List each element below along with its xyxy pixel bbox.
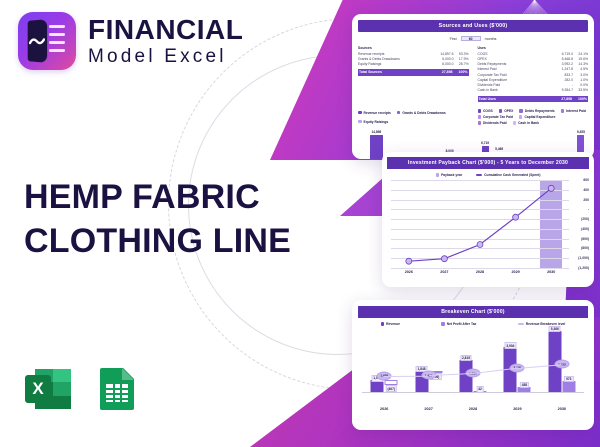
filter-months-input[interactable]: 60 bbox=[461, 36, 481, 41]
cell-name: Cash in Bank bbox=[478, 88, 551, 93]
payback-legend: Payback yearCumulative Cash Generated (S… bbox=[387, 173, 589, 177]
logo-list-lines bbox=[49, 25, 67, 57]
legend-label: Dividends Paid bbox=[483, 121, 507, 125]
table-row: Cash in Bank9,354.733.5% bbox=[478, 88, 589, 93]
legend-swatch bbox=[358, 111, 362, 115]
legend-item: Corporate Tax Paid bbox=[478, 115, 513, 119]
legend-swatch bbox=[499, 109, 503, 113]
revenue-value-label: 5,366 bbox=[549, 326, 561, 333]
card-sources-and-uses[interactable]: Sources and Uses ($'000) First 60 months… bbox=[352, 14, 594, 159]
legend-swatch bbox=[519, 115, 523, 119]
y-tick-label: - bbox=[588, 207, 589, 211]
legend-label: OPEX bbox=[504, 109, 513, 113]
microsoft-excel-icon: X bbox=[25, 366, 71, 412]
y-tick-label: (200) bbox=[581, 217, 589, 221]
legend-label: COGS bbox=[483, 109, 493, 113]
google-sheets-icon bbox=[95, 366, 141, 412]
net-profit-value-label: (467) bbox=[385, 385, 396, 392]
net-profit-value-label: 973 bbox=[564, 376, 573, 383]
x-tick-label: 2028 bbox=[451, 407, 495, 411]
legend-swatch bbox=[561, 109, 565, 113]
card-investment-payback[interactable]: Investment Payback Chart ($'000) - 5 Yea… bbox=[382, 152, 594, 287]
x-tick-label: 2028 bbox=[462, 270, 498, 274]
legend-swatch bbox=[358, 120, 362, 124]
legend-item: Grants & Debts Drawdowns bbox=[397, 109, 446, 116]
y-tick-label: (600) bbox=[581, 237, 589, 241]
y-tick-label: (400) bbox=[581, 227, 589, 231]
uses-column: Uses COGS6,719.024.1%OPEX5,468.819.6%Deb… bbox=[478, 46, 589, 102]
brand-logo: FINANCIAL Model Excel bbox=[18, 12, 243, 70]
legend-item: Revenue bbox=[381, 322, 400, 326]
y-tick-label: (1,200) bbox=[578, 266, 589, 270]
uses-total-pct: 100% bbox=[572, 97, 587, 101]
legend-item: Net Profit After Tax bbox=[441, 322, 476, 326]
legend-item: COGS bbox=[478, 109, 493, 113]
net-profit-value-label: 458 bbox=[520, 382, 529, 389]
revenue-value-label: 2,819 bbox=[460, 355, 472, 362]
x-tick-label: 2026 bbox=[362, 407, 406, 411]
cell-pct: 33.5% bbox=[573, 88, 588, 93]
revenue-bar: 1,040 bbox=[371, 380, 384, 392]
bar-value-label: 14,898 bbox=[371, 130, 381, 134]
legend-swatch bbox=[478, 121, 482, 125]
sources-total-row: Total Sources 27,898 100% bbox=[358, 69, 469, 75]
legend-swatch bbox=[436, 173, 440, 177]
legend-label: Grants & Debts Drawdowns bbox=[402, 111, 445, 115]
sources-uses-filter[interactable]: First 60 months bbox=[358, 36, 588, 41]
sources-header: Sources bbox=[358, 46, 469, 50]
legend-label: Payback year bbox=[441, 173, 462, 177]
uses-total-label: Total Uses bbox=[479, 97, 550, 101]
breakeven-x-axis-labels: 20262027202820292030 bbox=[362, 407, 584, 411]
legend-item: Equity Raisings bbox=[358, 118, 388, 125]
x-tick-label: 2029 bbox=[498, 270, 534, 274]
bar-value-label: 6,719 bbox=[481, 141, 489, 145]
cell-pct: 28.7% bbox=[454, 62, 469, 67]
legend-item: Payback year bbox=[436, 173, 463, 177]
filter-suffix-label: months bbox=[485, 37, 497, 41]
legend-swatch bbox=[519, 109, 523, 113]
y-tick-label: 400 bbox=[583, 188, 589, 192]
breakeven-title: Breakeven Chart ($'000) bbox=[358, 306, 588, 318]
cell-value: 8,000.0 bbox=[431, 62, 454, 67]
payback-plot: 600400200-(200)(400)(600)(800)(1,000)(1,… bbox=[391, 180, 569, 268]
legend-label: Revenue bbox=[386, 322, 400, 326]
legend-swatch bbox=[478, 115, 482, 119]
sources-uses-title: Sources and Uses ($'000) bbox=[358, 20, 588, 32]
y-tick-label: 600 bbox=[583, 178, 589, 182]
brand-name-secondary: Model Excel bbox=[88, 47, 243, 66]
uses-chart-legend: COGSOPEXDebts RepaymentsInterest PaidCor… bbox=[478, 109, 589, 125]
y-tick-label: (800) bbox=[581, 246, 589, 250]
legend-swatch bbox=[441, 322, 445, 326]
logo-wave-icon bbox=[29, 37, 45, 46]
cell-value: 9,354.7 bbox=[550, 88, 573, 93]
x-tick-label: 2029 bbox=[495, 407, 539, 411]
legend-item: Capital Expenditure bbox=[519, 115, 555, 119]
legend-swatch bbox=[478, 109, 482, 113]
breakeven-plot: 1,040(467)1,4381,848(206)1,4572,819421,6… bbox=[362, 328, 584, 406]
bar-group: 1,040(467) bbox=[371, 380, 398, 392]
legend-label: Cumulative Cash Generated (Spent) bbox=[484, 173, 540, 177]
breakeven-level-line bbox=[384, 375, 428, 376]
legend-item: OPEX bbox=[499, 109, 514, 113]
x-tick-label: 2026 bbox=[391, 270, 427, 274]
legend-label: Cash in Bank bbox=[518, 121, 539, 125]
legend-item: Debts Repayments bbox=[519, 109, 554, 113]
legend-item: Cash in Bank bbox=[513, 121, 539, 125]
sources-chart-legend: Revenue receiptsGrants & Debts Drawdowns… bbox=[358, 109, 469, 125]
legend-label: Debts Repayments bbox=[525, 109, 555, 113]
bar-group: 14,898 bbox=[370, 128, 383, 159]
legend-swatch bbox=[476, 174, 482, 175]
sources-column: Sources Revenue receipts14,897.653.3%Gra… bbox=[358, 46, 469, 102]
table-row: Equity Raisings8,000.028.7% bbox=[358, 62, 469, 67]
x-tick-label: 2030 bbox=[533, 270, 569, 274]
net-profit-bar: 42 bbox=[474, 391, 487, 392]
legend-swatch bbox=[397, 111, 401, 115]
legend-item: Revenue receipts bbox=[358, 109, 391, 116]
legend-item: Dividends Paid bbox=[478, 121, 507, 125]
x-tick-label: 2027 bbox=[406, 407, 450, 411]
revenue-value-label: 3,904 bbox=[504, 342, 516, 349]
y-tick-label: (1,000) bbox=[578, 256, 589, 260]
y-tick-label: 200 bbox=[583, 198, 589, 202]
page-title-line-1: HEMP FABRIC bbox=[24, 176, 291, 220]
brand-name-primary: FINANCIAL bbox=[88, 16, 243, 44]
x-tick-label: 2030 bbox=[540, 407, 584, 411]
legend-label: Equity Raisings bbox=[364, 120, 389, 124]
page-title: HEMP FABRIC CLOTHING LINE bbox=[24, 176, 291, 263]
net-profit-bar: (467) bbox=[385, 380, 398, 385]
payback-line-series bbox=[391, 180, 569, 268]
sources-total-pct: 100% bbox=[453, 70, 468, 74]
legend-label: Interest Paid bbox=[566, 109, 586, 113]
net-profit-bar: 973 bbox=[562, 381, 575, 392]
cell-name: Equity Raisings bbox=[358, 62, 431, 67]
payback-x-axis-labels: 20262027202820292030 bbox=[391, 270, 569, 274]
net-profit-bar: 458 bbox=[518, 387, 531, 392]
filter-prefix-label: First bbox=[450, 37, 457, 41]
uses-total-value: 27,898 bbox=[549, 97, 572, 101]
platform-icons: X bbox=[25, 366, 141, 412]
bar bbox=[370, 135, 383, 159]
page-title-line-2: CLOTHING LINE bbox=[24, 220, 291, 264]
legend-swatch bbox=[381, 322, 385, 326]
uses-header: Uses bbox=[478, 46, 589, 50]
legend-swatch bbox=[518, 323, 524, 324]
x-tick-label: 2027 bbox=[427, 270, 463, 274]
sources-total-label: Total Sources bbox=[359, 70, 430, 74]
legend-swatch bbox=[513, 121, 517, 125]
legend-label: Net Profit After Tax bbox=[447, 322, 477, 326]
payback-title: Investment Payback Chart ($'000) - 5 Yea… bbox=[387, 157, 589, 169]
cover-canvas: FINANCIAL Model Excel HEMP FABRIC CLOTHI… bbox=[0, 0, 600, 447]
financial-model-logo-icon bbox=[18, 12, 76, 70]
excel-badge-letter: X bbox=[25, 375, 51, 403]
payback-y-axis-labels: 600400200-(200)(400)(600)(800)(1,000)(1,… bbox=[569, 180, 589, 268]
legend-item: Interest Paid bbox=[561, 109, 586, 113]
legend-item: Cumulative Cash Generated (Spent) bbox=[476, 173, 540, 177]
card-breakeven-chart[interactable]: Breakeven Chart ($'000) RevenueNet Profi… bbox=[352, 300, 594, 430]
bar-value-label: 5,469 bbox=[495, 147, 503, 151]
legend-label: Revenue receipts bbox=[364, 111, 391, 115]
legend-label: Corporate Tax Paid bbox=[483, 115, 513, 119]
net-profit-value-label: 42 bbox=[476, 386, 484, 393]
legend-label: Capital Expenditure bbox=[524, 115, 555, 119]
bar-value-label: 9,355 bbox=[577, 130, 585, 134]
uses-total-row: Total Uses 27,898 100% bbox=[478, 96, 589, 102]
sources-total-value: 27,898 bbox=[430, 70, 453, 74]
